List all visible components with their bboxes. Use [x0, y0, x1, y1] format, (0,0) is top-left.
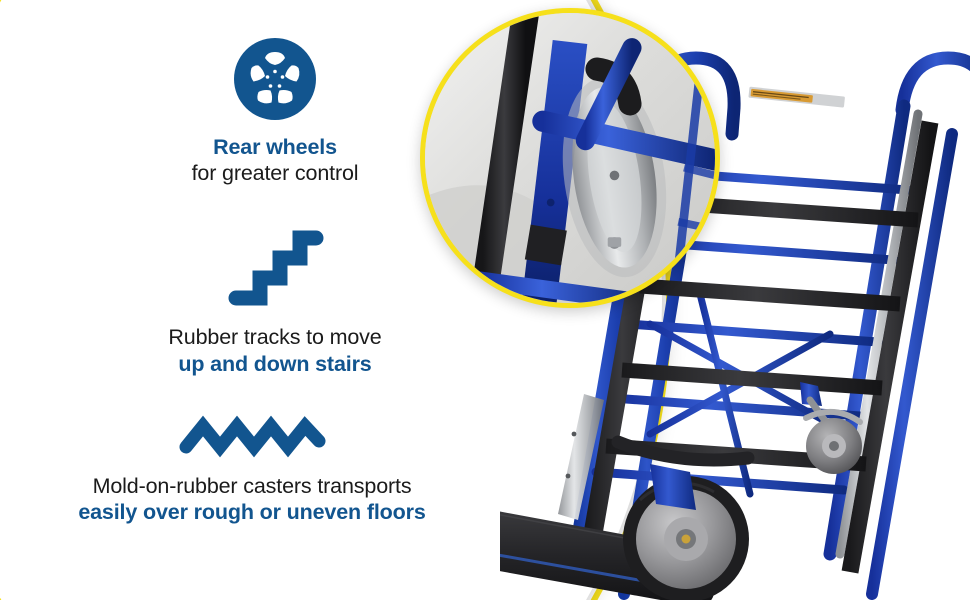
feature-casters-line1: Mold-on-rubber casters transports	[42, 473, 462, 499]
feature-rear-wheels-text: Rear wheels for greater control	[110, 134, 440, 186]
chrome-rail	[840, 114, 918, 554]
feature-rear-wheels-line1: Rear wheels	[110, 134, 440, 160]
feature-rubber-tracks-text: Rubber tracks to move up and down stairs	[110, 324, 440, 376]
feature-mold-on-rubber-casters: Mold-on-rubber casters transports easily…	[42, 413, 462, 525]
feature-rear-wheels-line2: for greater control	[110, 160, 440, 186]
closeup-post-cuff	[543, 228, 549, 263]
feature-casters-line2: easily over rough or uneven floors	[42, 499, 462, 525]
feature-rear-wheels: Rear wheels for greater control	[110, 38, 440, 186]
feature-rubber-tracks-line2: up and down stairs	[110, 351, 440, 377]
feature-rubber-tracks: Rubber tracks to move up and down stairs	[110, 224, 440, 376]
stairs-icon	[110, 224, 440, 310]
feature-rubber-tracks-line1: Rubber tracks to move	[110, 324, 440, 350]
closeup-illustration	[425, 13, 715, 303]
feature-banner: Rear wheels for greater control Rubber t…	[0, 0, 970, 600]
warning-label	[748, 87, 845, 108]
plate-bolt-2	[566, 474, 571, 479]
plate-bolt-1	[572, 432, 577, 437]
zigzag-icon	[42, 413, 462, 459]
rubber-track-closeup-photo	[420, 8, 720, 308]
wheel-icon	[110, 38, 440, 120]
feature-mold-on-rubber-casters-text: Mold-on-rubber casters transports easily…	[42, 473, 462, 525]
axle-housing	[650, 464, 696, 510]
photo-stage	[380, 0, 970, 600]
feature-list: Rear wheels for greater control Rubber t…	[110, 38, 440, 568]
